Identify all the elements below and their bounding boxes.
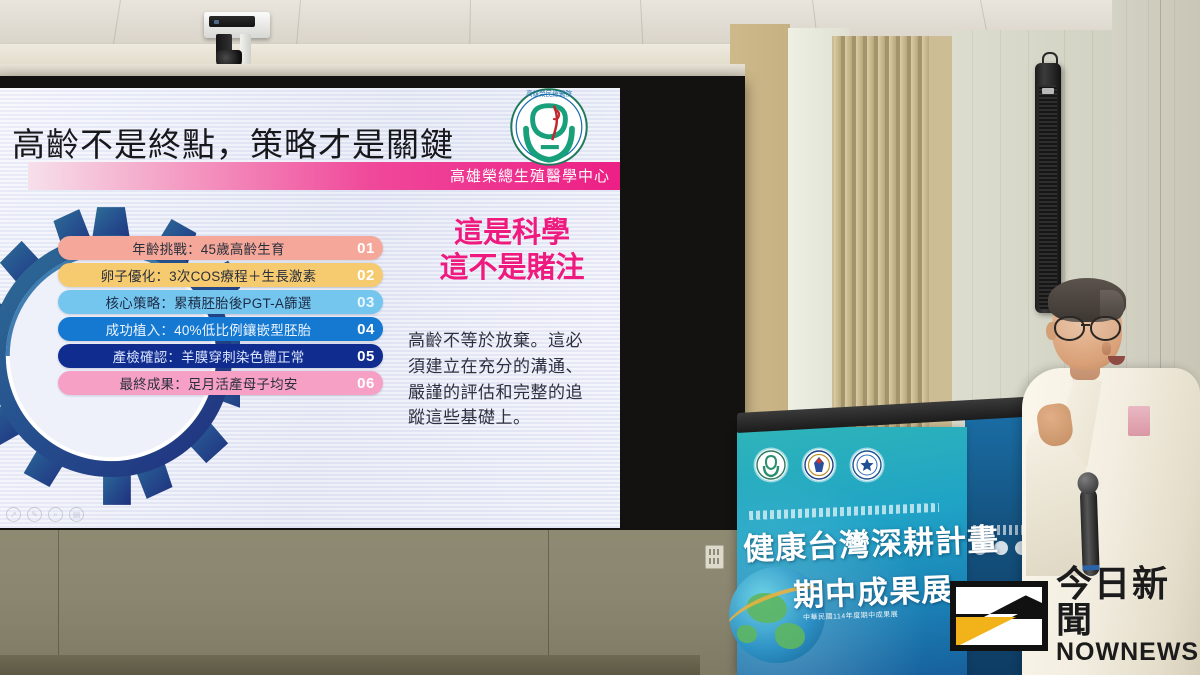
list-item-label: 產檢確認：羊膜穿刺染色體正常 xyxy=(58,346,349,366)
presentation-slide[interactable]: 高齡不是終點，策略才是關鍵 高雄榮民總醫院 高雄榮總生殖醫學中心 xyxy=(0,88,620,528)
brand-name-en: NOWNEWS xyxy=(1056,640,1200,665)
nownews-wordmark: 今日新聞 NOWNEWS xyxy=(1056,566,1200,665)
list-item-label: 年齡挑戰：45歲高齡生育 xyxy=(58,238,349,258)
nose xyxy=(1102,342,1111,355)
list-item-label: 成功植入：40%低比例鑲嵌型胚胎 xyxy=(58,319,349,339)
pen-icon[interactable]: ✎ xyxy=(27,507,42,522)
slide-headline: 這是科學 這不是賭注 xyxy=(412,216,612,287)
list-item[interactable]: 產檢確認：羊膜穿刺染色體正常 05 xyxy=(58,344,383,368)
list-item[interactable]: 成功植入：40%低比例鑲嵌型胚胎 04 xyxy=(58,317,383,341)
kvgh-hospital-logo: 高雄榮民總醫院 xyxy=(508,88,590,168)
list-item-number: 06 xyxy=(349,375,383,392)
logo-text: 高雄榮民總醫院 xyxy=(526,89,572,98)
headline-line-1: 這是科學 xyxy=(412,216,612,251)
list-item-label: 最終成果：足月活產母子均安 xyxy=(58,373,349,393)
headline-line-2: 這不是賭注 xyxy=(412,251,612,286)
list-item[interactable]: 最終成果：足月活產母子均安 06 xyxy=(58,371,383,395)
list-item[interactable]: 核心策略：累積胚胎後PGT-A篩選 03 xyxy=(58,290,383,314)
mouth xyxy=(1108,356,1125,365)
glasses-icon xyxy=(1052,316,1124,338)
list-item-number: 02 xyxy=(349,267,383,284)
brand-name-cn: 今日新聞 xyxy=(1056,566,1200,638)
podium-subtitle-tiny: 中華民國114年度期中成果展 xyxy=(803,609,898,622)
podium-banner: 健康台灣深耕計畫 期中成果展 中華民國114年度期中成果展 xyxy=(737,427,967,675)
wall-baseboard xyxy=(0,655,700,675)
power-outlet xyxy=(705,545,724,569)
search-icon[interactable]: ⌕ xyxy=(48,507,63,522)
kaohsiung-city-emblem-icon xyxy=(851,449,883,481)
slide-title: 高齡不是終點，策略才是關鍵 xyxy=(12,118,454,166)
nownews-z-logo-icon xyxy=(950,581,1048,651)
list-item-number: 05 xyxy=(349,348,383,365)
wall-seam xyxy=(548,530,549,675)
list-item[interactable]: 年齡挑戰：45歲高齡生育 01 xyxy=(58,236,383,260)
nownews-watermark: 今日新聞 NOWNEWS xyxy=(950,566,1200,665)
podium-emblems xyxy=(755,449,883,481)
podium-title-line-1: 健康台灣深耕計畫 xyxy=(742,514,1000,569)
list-item-number: 01 xyxy=(349,240,383,257)
lower-wall xyxy=(0,530,762,675)
podium-title-line-2: 期中成果展 xyxy=(792,564,954,615)
pointer-icon[interactable]: ↗ xyxy=(6,507,21,522)
list-item-label: 卵子優化：3次COS療程＋生長激素 xyxy=(58,265,349,285)
wall-seam xyxy=(58,530,59,675)
projection-screen: 高齡不是終點，策略才是關鍵 高雄榮民總醫院 高雄榮總生殖醫學中心 xyxy=(0,76,745,536)
slide-tool-bar[interactable]: ↗ ✎ ⌕ ▤ xyxy=(6,507,84,522)
screenshot-root: 高齡不是終點，策略才是關鍵 高雄榮民總醫院 高雄榮總生殖醫學中心 xyxy=(0,0,1200,675)
list-item-label: 核心策略：累積胚胎後PGT-A篩選 xyxy=(58,292,349,312)
menu-icon[interactable]: ▤ xyxy=(69,507,84,522)
list-item-number: 03 xyxy=(349,294,383,311)
kvgh-emblem-icon xyxy=(755,449,787,481)
list-item[interactable]: 卵子優化：3次COS療程＋生長激素 02 xyxy=(58,263,383,287)
slide-subtitle: 高雄榮總生殖醫學中心 xyxy=(450,165,610,186)
coat-pocket-badge xyxy=(1128,406,1150,436)
veterans-affairs-emblem-icon xyxy=(803,449,835,481)
slide-body-text: 高齡不等於放棄。這必須建立在充分的溝通、嚴謹的評估和完整的追蹤這些基礎上。 xyxy=(408,328,588,431)
slide-step-list: 年齡挑戰：45歲高齡生育 01 卵子優化：3次COS療程＋生長激素 02 核心策… xyxy=(58,236,383,398)
list-item-number: 04 xyxy=(349,321,383,338)
